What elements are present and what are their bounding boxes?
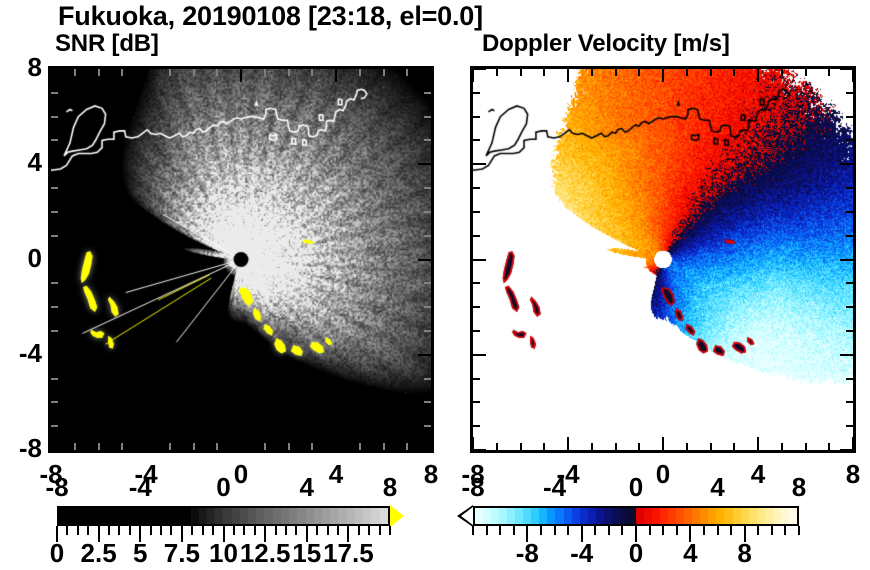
colorbar-tick <box>717 526 719 535</box>
colorbar-segment <box>75 508 83 524</box>
colorbar-segment <box>596 508 604 524</box>
colorbar-segment <box>523 508 531 524</box>
colorbar-segment <box>708 508 716 524</box>
colorbar-tick <box>649 526 651 535</box>
colorbar-tick <box>295 526 297 535</box>
colorbar-segment <box>338 508 346 524</box>
colorbar-tick <box>212 526 214 535</box>
colorbar-segment <box>297 508 305 524</box>
colorbar-segment <box>668 508 676 524</box>
colorbar-tick <box>254 526 256 535</box>
colorbar-upper-tick-label: -4 <box>510 472 600 503</box>
colorbar-upper-tick-label: 8 <box>345 472 435 503</box>
colorbar-segment <box>125 508 133 524</box>
colorbar-segment <box>363 508 371 524</box>
colorbar-segment <box>240 508 248 524</box>
colorbar-tick <box>108 526 110 535</box>
snr-colorbar[interactable] <box>57 506 390 526</box>
colorbar-segment <box>117 508 125 524</box>
colorbar-tick <box>676 526 678 535</box>
colorbar-segment <box>483 508 491 524</box>
colorbar-segment <box>330 508 338 524</box>
colorbar-tick <box>160 526 162 535</box>
colorbar-upper-tick-label: -8 <box>12 472 102 503</box>
y-axis-tick-label: -4 <box>2 338 42 369</box>
colorbar-segment <box>100 508 108 524</box>
colorbar-segment <box>572 508 580 524</box>
colorbar-tick <box>554 526 556 535</box>
colorbar-segment <box>507 508 515 524</box>
snr-plot-panel[interactable] <box>48 66 434 453</box>
colorbar-tick-label: 17.5 <box>303 538 393 569</box>
colorbar-segment <box>765 508 773 524</box>
colorbar-segment <box>84 508 92 524</box>
colorbar-segment <box>724 508 732 524</box>
colorbar-segment <box>604 508 612 524</box>
colorbar-tick <box>771 526 773 535</box>
radar-figure: Fukuoka, 20190108 [23:18, el=0.0] SNR [d… <box>0 0 870 570</box>
colorbar-arrow-right <box>799 505 813 527</box>
page-title: Fukuoka, 20190108 [23:18, el=0.0] <box>58 1 483 32</box>
colorbar-segment <box>264 508 272 524</box>
colorbar-segment <box>660 508 668 524</box>
colorbar-upper-tick-label: -8 <box>428 472 518 503</box>
colorbar-tick <box>379 526 381 535</box>
colorbar-upper-tick-label: 4 <box>673 472 763 503</box>
colorbar-tick <box>703 526 705 535</box>
colorbar-tick <box>77 526 79 535</box>
colorbar-tick <box>285 526 287 535</box>
colorbar-segment <box>499 508 507 524</box>
colorbar-segment <box>174 508 182 524</box>
y-axis-tick-label: 4 <box>2 147 42 178</box>
colorbar-tick <box>608 526 610 535</box>
colorbar-segment <box>273 508 281 524</box>
colorbar-upper-tick-label: 8 <box>754 472 844 503</box>
colorbar-segment <box>108 508 116 524</box>
colorbar-segment <box>281 508 289 524</box>
colorbar-segment <box>555 508 563 524</box>
colorbar-segment <box>59 508 67 524</box>
colorbar-segment <box>232 508 240 524</box>
colorbar-tick <box>368 526 370 535</box>
colorbar-segment <box>749 508 757 524</box>
y-axis-tick-label: -8 <box>2 433 42 464</box>
panel-label-doppler: Doppler Velocity [m/s] <box>482 30 730 58</box>
colorbar-tick <box>87 526 89 535</box>
colorbar-tick <box>129 526 131 535</box>
colorbar-segment <box>684 508 692 524</box>
colorbar-segment <box>92 508 100 524</box>
snr-colorbar-gradient <box>57 506 390 526</box>
colorbar-segment <box>158 508 166 524</box>
colorbar-upper-tick-label: 0 <box>179 472 269 503</box>
colorbar-tick <box>327 526 329 535</box>
colorbar-segment <box>733 508 741 524</box>
colorbar-tick <box>472 526 474 535</box>
colorbar-tick-label: 8 <box>700 538 790 569</box>
y-axis-tick-label: 0 <box>2 243 42 274</box>
colorbar-segment <box>652 508 660 524</box>
colorbar-segment <box>531 508 539 524</box>
colorbar-segment <box>628 508 636 524</box>
colorbar-segment <box>612 508 620 524</box>
doppler-plot-panel[interactable] <box>470 66 856 453</box>
colorbar-tick <box>118 526 120 535</box>
colorbar-tick <box>486 526 488 535</box>
colorbar-segment <box>757 508 765 524</box>
colorbar-segment <box>789 508 797 524</box>
colorbar-segment <box>700 508 708 524</box>
colorbar-segment <box>199 508 207 524</box>
colorbar-tick <box>730 526 732 535</box>
colorbar-segment <box>380 508 388 524</box>
colorbar-segment <box>256 508 264 524</box>
colorbar-tick <box>513 526 515 535</box>
colorbar-tick <box>594 526 596 535</box>
colorbar-tick <box>621 526 623 535</box>
doppler-radar-image <box>473 69 853 450</box>
colorbar-segment <box>475 508 483 524</box>
colorbar-upper-tick-label: -4 <box>95 472 185 503</box>
colorbar-segment <box>636 508 644 524</box>
colorbar-segment <box>133 508 141 524</box>
colorbar-segment <box>515 508 523 524</box>
colorbar-tick <box>191 526 193 535</box>
panel-label-snr: SNR [dB] <box>55 30 159 58</box>
colorbar-segment <box>322 508 330 524</box>
y-axis-tick-label: 8 <box>2 52 42 83</box>
doppler-colorbar-gradient <box>473 506 799 526</box>
colorbar-segment <box>314 508 322 524</box>
colorbar-tick <box>170 526 172 535</box>
colorbar-tick <box>389 526 391 535</box>
colorbar-tick <box>150 526 152 535</box>
colorbar-segment <box>306 508 314 524</box>
colorbar-upper-tick-label: 4 <box>262 472 352 503</box>
colorbar-tick <box>233 526 235 535</box>
colorbar-segment <box>207 508 215 524</box>
colorbar-segment <box>773 508 781 524</box>
colorbar-segment <box>491 508 499 524</box>
colorbar-segment <box>781 508 789 524</box>
colorbar-segment <box>564 508 572 524</box>
colorbar-tick <box>243 526 245 535</box>
colorbar-segment <box>215 508 223 524</box>
colorbar-segment <box>289 508 297 524</box>
colorbar-tick <box>662 526 664 535</box>
colorbar-tick <box>798 526 800 535</box>
colorbar-segment <box>741 508 749 524</box>
colorbar-segment <box>547 508 555 524</box>
colorbar-tick <box>66 526 68 535</box>
colorbar-upper-tick-label: 0 <box>591 472 681 503</box>
colorbar-segment <box>355 508 363 524</box>
colorbar-tick <box>358 526 360 535</box>
colorbar-segment <box>191 508 199 524</box>
colorbar-segment <box>644 508 652 524</box>
colorbar-segment <box>166 508 174 524</box>
colorbar-segment <box>149 508 157 524</box>
colorbar-segment <box>676 508 684 524</box>
colorbar-segment <box>223 508 231 524</box>
colorbar-tick <box>275 526 277 535</box>
doppler-colorbar[interactable] <box>473 506 799 526</box>
colorbar-segment <box>347 508 355 524</box>
colorbar-segment <box>588 508 596 524</box>
colorbar-segment <box>620 508 628 524</box>
colorbar-segment <box>67 508 75 524</box>
colorbar-segment <box>141 508 149 524</box>
colorbar-segment <box>182 508 190 524</box>
colorbar-tick <box>202 526 204 535</box>
colorbar-tick <box>784 526 786 535</box>
colorbar-tick <box>337 526 339 535</box>
colorbar-segment <box>716 508 724 524</box>
snr-radar-image <box>51 69 431 450</box>
colorbar-segment <box>371 508 379 524</box>
colorbar-tick <box>499 526 501 535</box>
colorbar-tick <box>757 526 759 535</box>
colorbar-segment <box>580 508 588 524</box>
colorbar-segment <box>248 508 256 524</box>
colorbar-segment <box>539 508 547 524</box>
colorbar-arrow-left <box>461 507 473 525</box>
colorbar-segment <box>692 508 700 524</box>
colorbar-tick <box>316 526 318 535</box>
colorbar-tick <box>540 526 542 535</box>
colorbar-tick <box>567 526 569 535</box>
colorbar-arrow-right <box>390 505 404 527</box>
